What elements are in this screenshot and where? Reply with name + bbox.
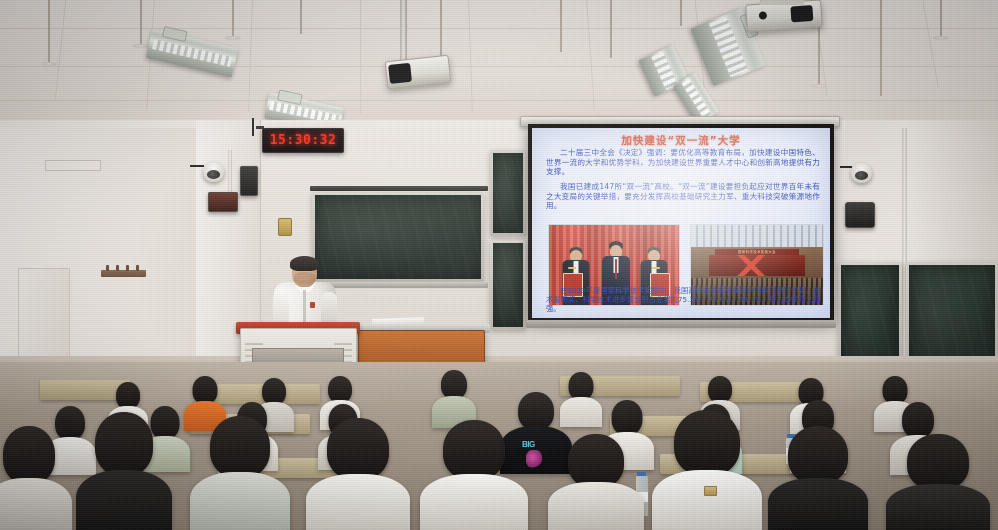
lecture-hall-photo: 15:30:32 加快建设“双一流”大学 二十届三中全会《决定》强调：要优化高等… (0, 0, 998, 530)
projection-screen-bottom-bar (526, 320, 836, 328)
ceiling-tile-grid (0, 0, 998, 132)
chalk-ledge (310, 282, 488, 288)
hall-banner: 国家科学技术奖励大会 (715, 249, 799, 255)
wall-speaker (208, 192, 238, 212)
wall-speaker (240, 166, 258, 196)
list-item (548, 434, 644, 530)
wall-vent-plate (45, 160, 101, 171)
list-item (886, 434, 990, 530)
list-item (420, 420, 528, 530)
blackboard-side-lower (490, 240, 526, 330)
dome-security-camera (851, 163, 872, 183)
slide-caption: 在2023年度国家科学技术奖励中，我国高校企业牵头获得的国家自然科学奖、技术发明… (546, 286, 820, 313)
digital-wall-clock: 15:30:32 (262, 128, 344, 153)
list-item (432, 370, 476, 426)
list-item (768, 426, 868, 530)
list-item (76, 412, 172, 530)
wall-speaker (845, 202, 875, 228)
seated-students: BIG (0, 362, 998, 530)
list-item (190, 416, 290, 530)
blackboard-center (312, 192, 484, 282)
list-item (306, 418, 410, 530)
hall-banner-text: 国家科学技术奖励大会 (715, 249, 799, 255)
slide-paragraph-1: 二十届三中全会《决定》强调：要优化高等教育布局，加快建设中国特色、世界一流的大学… (546, 148, 820, 177)
list-item (0, 426, 72, 530)
blackboard-side-upper (490, 150, 526, 236)
shirt-logo-patch (704, 486, 717, 496)
clock-time: 15:30:32 (270, 133, 337, 148)
presentation-slide: 加快建设“双一流”大学 二十届三中全会《决定》强调：要优化高等教育布局，加快建设… (532, 128, 830, 318)
slide-title: 加快建设“双一流”大学 (532, 133, 830, 148)
blackboard-top-rail (310, 186, 488, 191)
coat-hook-rail (101, 270, 146, 277)
list-item (652, 410, 762, 530)
slide-paragraph-2: 我国已建成147所“双一流”高校。“双一流”建设要担负起应对世界百年未有之大变局… (546, 182, 820, 211)
presenter-badge (310, 302, 315, 308)
ceiling (0, 0, 998, 132)
wall-alarm-box (278, 218, 292, 236)
projection-screen: 加快建设“双一流”大学 二十届三中全会《决定》强调：要优化高等教育布局，加快建设… (528, 124, 834, 322)
dome-security-camera (203, 162, 224, 182)
